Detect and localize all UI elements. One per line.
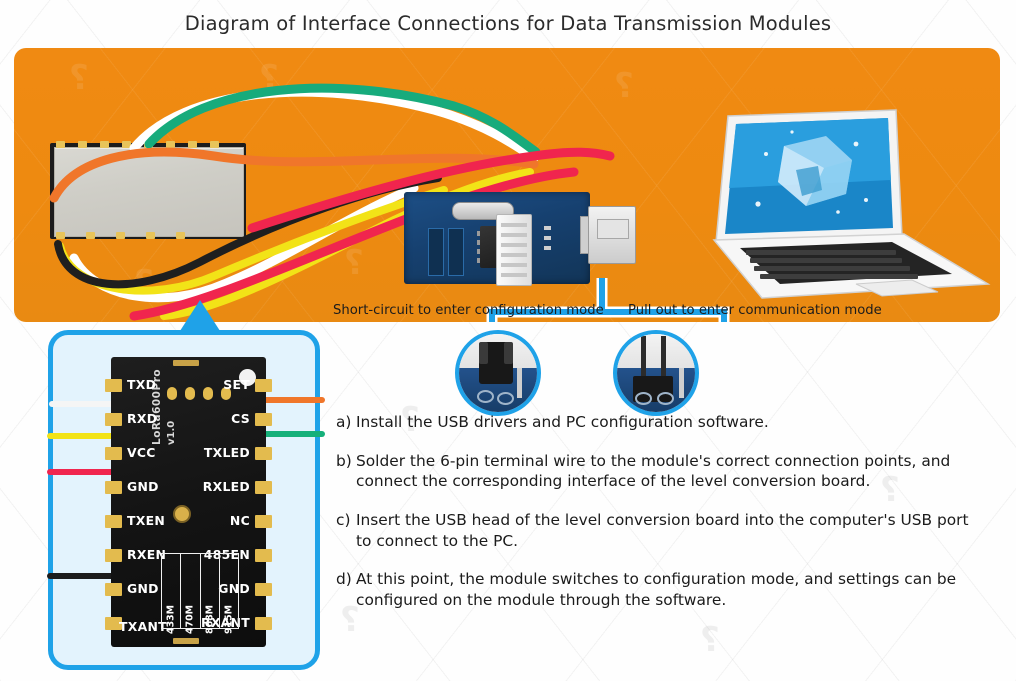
wire-cs: [261, 431, 325, 437]
usb-ttl-converter-photo: [392, 186, 624, 290]
module-closeup-card: LoRa600Pro v1.0 TXD RXD VCC GND TXEN RXE…: [48, 330, 320, 670]
mode-label-communication: Pull out to enter communication mode: [628, 303, 882, 318]
step-marker: c): [336, 510, 350, 531]
usb-a-plug: [588, 206, 636, 264]
step-text: Solder the 6-pin terminal wire to the mo…: [356, 452, 950, 491]
frequency-option-0: 433M: [166, 605, 177, 634]
pin-label-left-4: TXEN: [127, 513, 165, 528]
jumper-installed-detail: [455, 330, 541, 416]
pin-label-left-2: VCC: [127, 445, 156, 460]
frequency-option-1: 470M: [185, 605, 196, 634]
wire-gnd: [47, 573, 119, 579]
pin-header-right: [448, 228, 464, 276]
wire-set: [261, 397, 325, 403]
pin-label-left-3: GND: [127, 479, 159, 494]
page-title: Diagram of Interface Connections for Dat…: [0, 12, 1016, 35]
pin-label-right-3: RXLED: [203, 479, 250, 494]
step-marker: b): [336, 451, 352, 472]
pin-label-left-7: TXANT: [119, 619, 167, 634]
pin-label-left-6: GND: [127, 581, 159, 596]
step-text: Install the USB drivers and PC configura…: [356, 413, 769, 431]
white-6pin-connector: [496, 214, 532, 286]
instruction-step: d) At this point, the module switches to…: [336, 569, 976, 610]
mode-label-configuration: Short-circuit to enter configuration mod…: [333, 303, 604, 318]
laptop-illustration: [706, 108, 998, 304]
wire-txd: [49, 401, 119, 407]
pin-label-right-2: TXLED: [204, 445, 250, 460]
frequency-option-2: 868M: [204, 605, 215, 634]
wire-rxd: [47, 433, 119, 439]
wire-vcc: [47, 469, 119, 475]
pin-label-right-0: SET: [223, 377, 250, 392]
instruction-step: c) Insert the USB head of the level conv…: [336, 510, 976, 551]
pin-label-left-0: TXD: [127, 377, 156, 392]
instruction-list: a) Install the USB drivers and PC config…: [336, 412, 976, 628]
lora-module-board: LoRa600Pro v1.0 TXD RXD VCC GND TXEN RXE…: [111, 357, 266, 647]
test-pads: [167, 387, 231, 399]
pin-label-right-1: CS: [231, 411, 250, 426]
pin-header-left: [428, 228, 444, 276]
page-root: Diagram of Interface Connections for Dat…: [0, 0, 1016, 681]
module-via: [173, 505, 191, 523]
instruction-step: a) Install the USB drivers and PC config…: [336, 412, 976, 433]
silkscreen-version: v1.0: [166, 421, 177, 445]
instruction-step: b) Solder the 6-pin terminal wire to the…: [336, 451, 976, 492]
frequency-option-table: 433M 470M 868M 915M: [161, 553, 239, 629]
step-text: Insert the USB head of the level convers…: [356, 511, 969, 550]
jumper-removed-detail: [613, 330, 699, 416]
frequency-option-3: 915M: [223, 605, 234, 634]
step-marker: d): [336, 569, 352, 590]
step-marker: a): [336, 412, 351, 433]
pin-label-left-1: RXD: [127, 411, 157, 426]
pin-label-right-4: NC: [230, 513, 250, 528]
step-text: At this point, the module switches to co…: [356, 570, 956, 609]
photo-panel: [14, 48, 1000, 322]
